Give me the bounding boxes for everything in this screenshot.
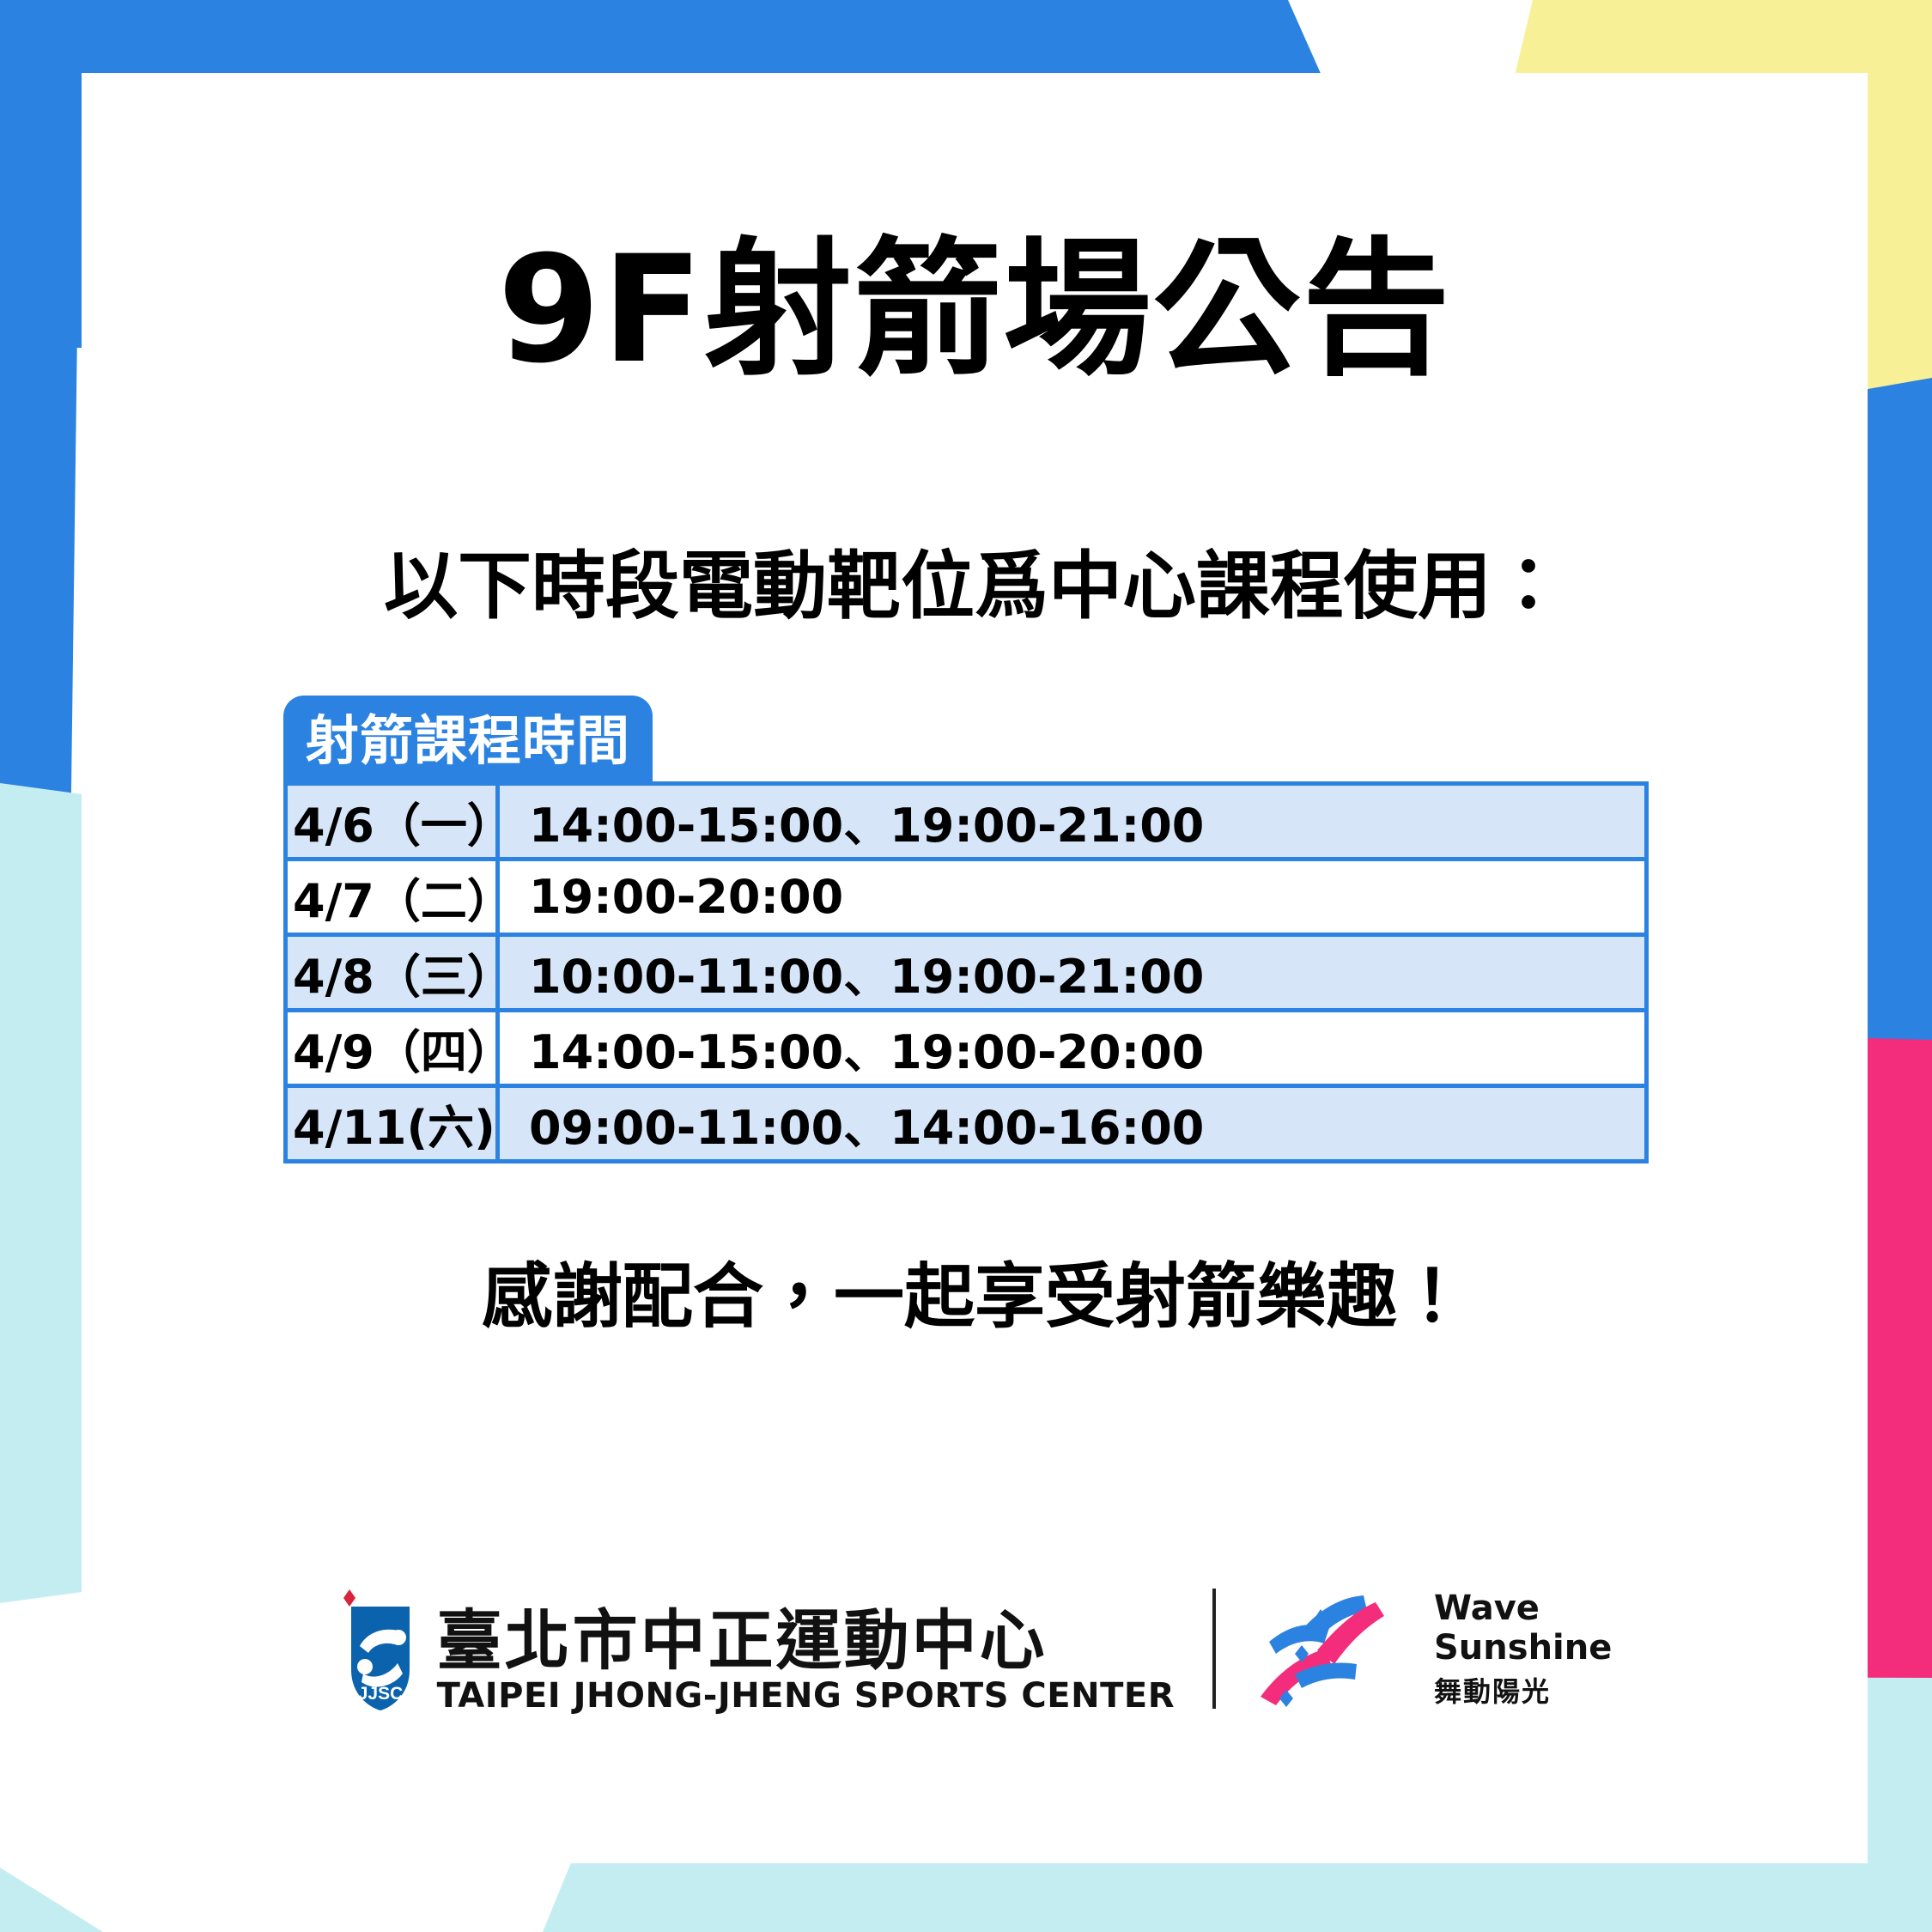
table-cell-date: 4/11(六) bbox=[286, 1086, 498, 1162]
poster-canvas: 9F射箭場公告 以下時段電動靶位爲中心課程使用： 射箭課程時間 4/6（一） 1… bbox=[0, 0, 1932, 1932]
table-cell-date: 4/7（二） bbox=[286, 860, 498, 935]
table-cell-date: 4/9（四） bbox=[286, 1011, 498, 1086]
jjsc-logo: JJSC 臺北市中正運動中心 TAIPEI JHONG-JHENG SPORTS… bbox=[337, 1584, 1175, 1713]
wave-sunshine-brushstroke-icon bbox=[1254, 1589, 1417, 1709]
jjsc-shield-icon: JJSC bbox=[337, 1584, 416, 1713]
schedule-table-header-tab: 射箭課程時間 bbox=[283, 696, 653, 785]
table-row: 4/7（二） 19:00-20:00 bbox=[286, 860, 1647, 935]
schedule-table: 4/6（一） 14:00-15:00、19:00-21:00 4/7（二） 19… bbox=[283, 781, 1649, 1163]
logo-row: JJSC 臺北市中正運動中心 TAIPEI JHONG-JHENG SPORTS… bbox=[82, 1584, 1868, 1713]
table-cell-times: 10:00-11:00、19:00-21:00 bbox=[498, 935, 1647, 1011]
jjsc-name-en: TAIPEI JHONG-JHENG SPORTS CENTER bbox=[437, 1679, 1175, 1713]
jjsc-wordmark: 臺北市中正運動中心 TAIPEI JHONG-JHENG SPORTS CENT… bbox=[437, 1608, 1175, 1713]
table-cell-times: 14:00-15:00、19:00-21:00 bbox=[498, 784, 1647, 860]
table-row: 4/11(六) 09:00-11:00、14:00-16:00 bbox=[286, 1086, 1647, 1162]
svg-text:JJSC: JJSC bbox=[357, 1684, 403, 1704]
subtitle-text: 以下時段電動靶位爲中心課程使用： bbox=[82, 550, 1868, 623]
wave-name-cn: 舞動陽光 bbox=[1434, 1675, 1612, 1708]
table-cell-date: 4/8（三） bbox=[286, 935, 498, 1011]
content-area: 9F射箭場公告 以下時段電動靶位爲中心課程使用： 射箭課程時間 4/6（一） 1… bbox=[82, 73, 1868, 1863]
table-row: 4/9（四） 14:00-15:00、19:00-20:00 bbox=[286, 1011, 1647, 1086]
table-cell-times: 09:00-11:00、14:00-16:00 bbox=[498, 1086, 1647, 1162]
table-cell-times: 19:00-20:00 bbox=[498, 860, 1647, 935]
wave-name-line2: Sunshine bbox=[1434, 1629, 1612, 1667]
page-title: 9F射箭場公告 bbox=[82, 236, 1868, 384]
table-cell-times: 14:00-15:00、19:00-20:00 bbox=[498, 1011, 1647, 1086]
wave-sunshine-logo: Wave Sunshine 舞動陽光 bbox=[1254, 1589, 1612, 1709]
decor-left-cyan-block bbox=[0, 783, 82, 1603]
logo-divider bbox=[1212, 1589, 1216, 1709]
table-row: 4/6（一） 14:00-15:00、19:00-21:00 bbox=[286, 784, 1647, 860]
schedule-table-wrapper: 射箭課程時間 4/6（一） 14:00-15:00、19:00-21:00 4/… bbox=[283, 696, 1649, 1163]
wave-name-line1: Wave bbox=[1434, 1589, 1612, 1627]
jjsc-name-cn: 臺北市中正運動中心 bbox=[437, 1608, 1175, 1674]
wave-sunshine-wordmark: Wave Sunshine 舞動陽光 bbox=[1434, 1589, 1612, 1708]
table-row: 4/8（三） 10:00-11:00、19:00-21:00 bbox=[286, 935, 1647, 1011]
table-cell-date: 4/6（一） bbox=[286, 784, 498, 860]
closing-note: 感謝配合，一起享受射箭樂趣！ bbox=[82, 1262, 1868, 1333]
